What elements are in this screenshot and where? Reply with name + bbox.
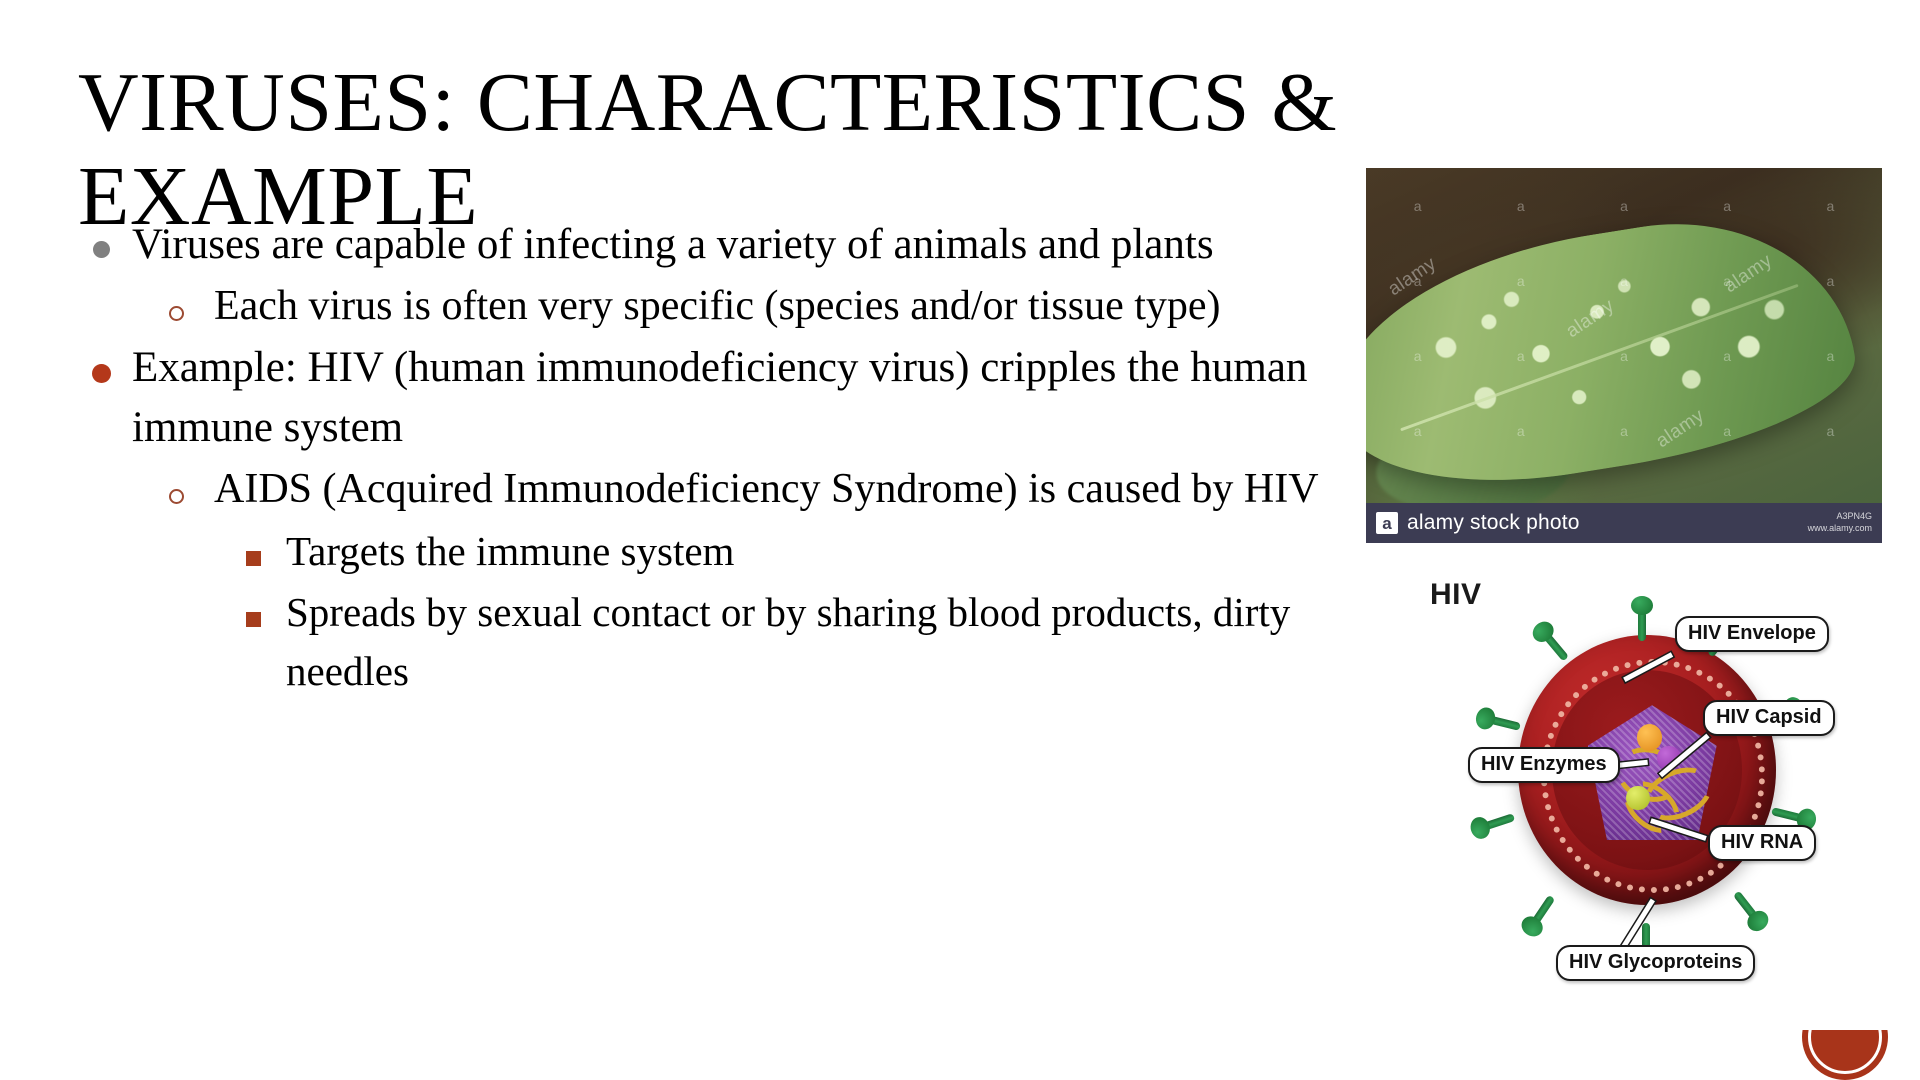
alamy-meta: A3PN4G www.alamy.com (1808, 511, 1872, 534)
bullet-marker (138, 460, 214, 504)
hiv-diagram-heading: HIV (1430, 578, 1482, 612)
hiv-label-enzymes: HIV Enzymes (1468, 747, 1620, 783)
bullet-marker (220, 522, 286, 566)
bullet-text: Each virus is often very specific (speci… (214, 277, 1370, 337)
bullet-marker (220, 583, 286, 627)
glycoprotein-spike-icon (1544, 633, 1569, 661)
leaf-stock-photo: a a a a a a a a a a a a a a a a a a a a … (1366, 168, 1882, 543)
glycoprotein-spike-icon (1771, 807, 1802, 822)
hiv-label-envelope: HIV Envelope (1675, 616, 1829, 652)
bullet-item: Spreads by sexual contact or by sharing … (70, 583, 1370, 701)
hiv-virion-diagram: HIV HIV Envelope HIV Capsid HIV Enzymes … (1420, 570, 1920, 1040)
glycoprotein-spike-icon (1638, 611, 1646, 641)
corner-decoration-icon (1802, 1030, 1888, 1080)
glycoprotein-spike-icon (1733, 891, 1758, 920)
bullet-marker (138, 277, 214, 321)
filled-circle-bullet-icon (93, 241, 110, 258)
alamy-image-id: A3PN4G (1808, 511, 1872, 523)
hollow-circle-bullet-icon (169, 306, 184, 321)
bullet-item: Example: HIV (human immunodeficiency vir… (70, 338, 1370, 458)
filled-square-bullet-icon (246, 612, 261, 627)
glycoprotein-spike-icon (1484, 813, 1515, 830)
alamy-website: www.alamy.com (1808, 523, 1872, 535)
hiv-label-rna: HIV RNA (1708, 825, 1816, 861)
filled-square-bullet-icon (246, 551, 261, 566)
alamy-footer-label: alamy stock photo (1407, 511, 1580, 535)
hiv-enzyme-marker (1626, 786, 1649, 810)
bullet-item: Targets the immune system (70, 522, 1370, 581)
hiv-label-glycoproteins: HIV Glycoproteins (1556, 945, 1755, 981)
bullet-marker (70, 338, 132, 383)
glycoprotein-spike-icon (1490, 716, 1521, 731)
hollow-circle-bullet-icon (169, 489, 184, 504)
bullet-item: Viruses are capable of infecting a varie… (70, 215, 1370, 275)
slide-body: Viruses are capable of infecting a varie… (70, 215, 1370, 703)
bullet-text: Viruses are capable of infecting a varie… (132, 215, 1370, 275)
bullet-text: Example: HIV (human immunodeficiency vir… (132, 338, 1370, 458)
bullet-text: Targets the immune system (286, 522, 1370, 581)
bullet-item: Each virus is often very specific (speci… (70, 277, 1370, 337)
filled-circle-bullet-icon (92, 364, 111, 383)
bullet-item: AIDS (Acquired Immunodeficiency Syndrome… (70, 460, 1370, 520)
alamy-footer-bar: a alamy stock photo A3PN4G www.alamy.com (1366, 503, 1882, 543)
hiv-label-capsid: HIV Capsid (1703, 700, 1835, 736)
bullet-text: AIDS (Acquired Immunodeficiency Syndrome… (214, 460, 1370, 520)
alamy-logo-icon: a (1376, 512, 1398, 534)
bullet-marker (70, 215, 132, 258)
bullet-text: Spreads by sexual contact or by sharing … (286, 583, 1370, 701)
glycoprotein-spike-icon (1532, 895, 1555, 924)
